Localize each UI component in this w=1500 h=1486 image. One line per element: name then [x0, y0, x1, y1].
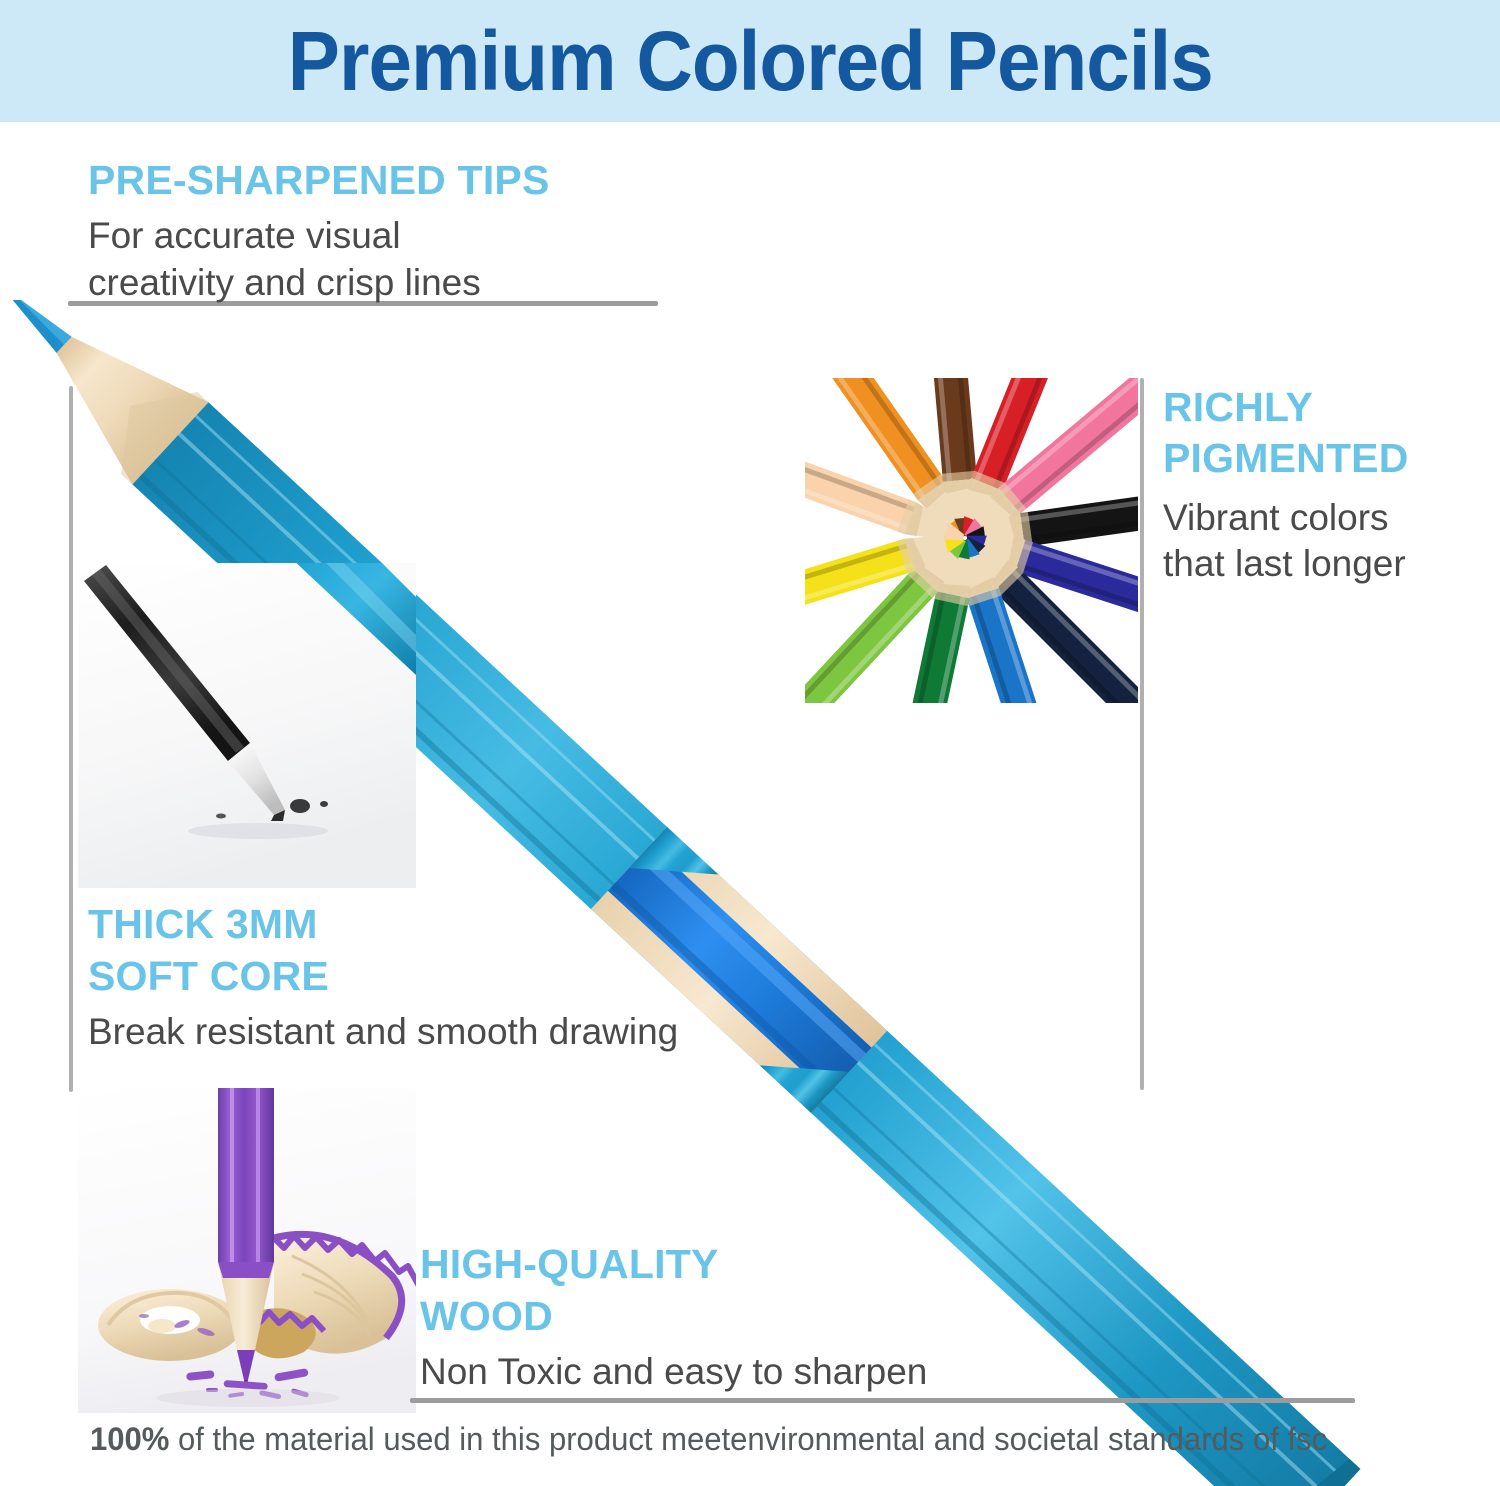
feature-heading: THICK 3MM SOFT CORE — [88, 898, 678, 1003]
feature-thick-soft-core: THICK 3MM SOFT CORE Break resistant and … — [88, 898, 678, 1056]
feature-heading: RICHLY PIGMENTED — [1163, 382, 1463, 485]
divider-left-vertical — [69, 386, 73, 1092]
footer-text: of the material used in this product mee… — [169, 1421, 1327, 1457]
feature-high-quality-wood: HIGH-QUALITY WOOD Non Toxic and easy to … — [420, 1238, 927, 1396]
black-pencil-broken-tip-photo — [78, 563, 416, 888]
feature-body: Non Toxic and easy to sharpen — [420, 1349, 927, 1396]
feature-body: Vibrant colors that last longer — [1163, 495, 1463, 589]
footer-disclaimer: 100% of the material used in this produc… — [90, 1420, 1380, 1458]
divider-right-vertical — [1140, 378, 1144, 1090]
colored-pencils-fan-photo — [805, 378, 1138, 703]
feature-richly-pigmented: RICHLY PIGMENTED Vibrant colors that las… — [1163, 382, 1463, 588]
feature-pre-sharpened-tips: PRE-SHARPENED TIPS For accurate visual c… — [88, 155, 550, 307]
divider-bottom-horizontal — [410, 1398, 1355, 1403]
purple-pencil-shavings-photo — [78, 1088, 416, 1413]
header-banner: Premium Colored Pencils — [0, 0, 1500, 122]
feature-body: Break resistant and smooth drawing — [88, 1009, 678, 1056]
feature-heading: HIGH-QUALITY WOOD — [420, 1238, 927, 1343]
page-title: Premium Colored Pencils — [287, 13, 1212, 110]
infographic-canvas: Premium Colored Pencils — [0, 0, 1500, 1486]
feature-heading: PRE-SHARPENED TIPS — [88, 155, 550, 205]
footer-emphasis: 100% — [90, 1421, 169, 1457]
feature-body: For accurate visual creativity and crisp… — [88, 213, 550, 307]
